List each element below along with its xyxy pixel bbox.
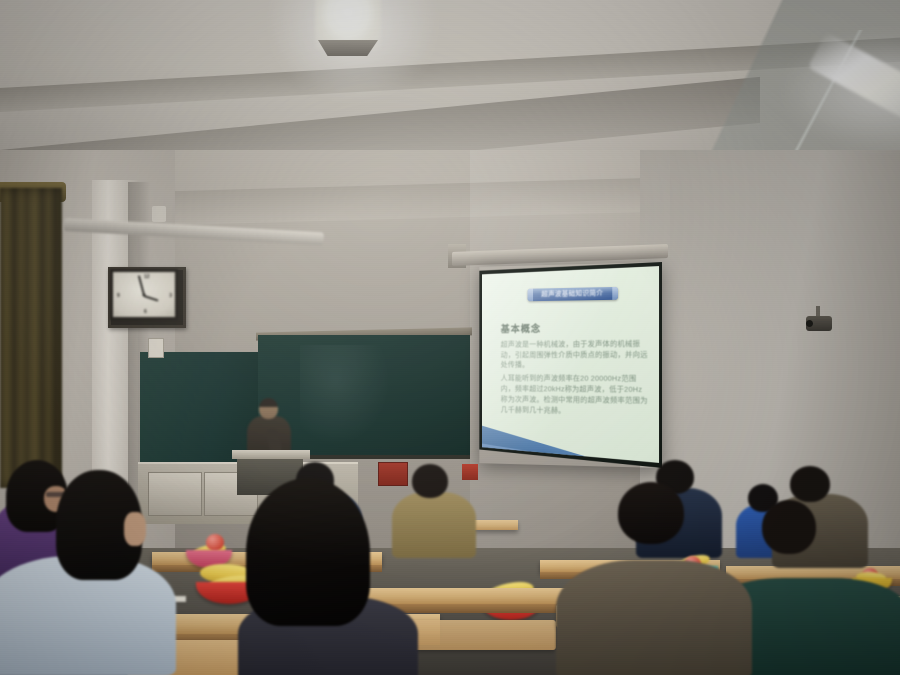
student-head xyxy=(412,464,448,498)
student-olive-jacket xyxy=(392,492,476,558)
student-ear xyxy=(124,512,146,546)
lecturer-head xyxy=(259,398,278,419)
pipe-bracket xyxy=(152,206,166,222)
wall-clock: 12 3 6 9 xyxy=(110,269,178,320)
wall-red-box xyxy=(462,464,478,480)
chalkboard-glare xyxy=(300,345,390,445)
classroom-photo: 12 3 6 9 超声波基础知识简介 基本概念 超声波是一种机械波，由于发声体的… xyxy=(0,0,900,675)
screen-glare xyxy=(482,266,659,463)
student-head xyxy=(762,500,816,554)
clock-number: 6 xyxy=(144,309,147,315)
student-brown-coat xyxy=(556,560,752,675)
light-switch[interactable] xyxy=(148,338,164,358)
apple xyxy=(206,534,224,551)
clock-number: 3 xyxy=(169,293,172,299)
student-head xyxy=(618,482,684,544)
wall-red-box xyxy=(378,462,408,486)
projector-lens xyxy=(806,320,813,327)
projection-screen: 超声波基础知识简介 基本概念 超声波是一种机械波，由于发声体的机械振动，引起周围… xyxy=(479,262,662,468)
clock-hour-hand xyxy=(144,295,159,302)
student-chair xyxy=(406,620,556,650)
chalkboard xyxy=(140,352,260,462)
clock-center-pin xyxy=(143,293,146,296)
projected-slide: 超声波基础知识简介 基本概念 超声波是一种机械波，由于发声体的机械振动，引起周围… xyxy=(482,266,659,463)
student-head xyxy=(790,466,830,502)
clock-number: 12 xyxy=(144,274,150,280)
window-curtain xyxy=(0,188,62,488)
cabinet-panel[interactable] xyxy=(148,472,202,516)
student-hair xyxy=(246,478,370,626)
clock-number: 9 xyxy=(117,293,120,299)
podium-top xyxy=(232,450,310,459)
